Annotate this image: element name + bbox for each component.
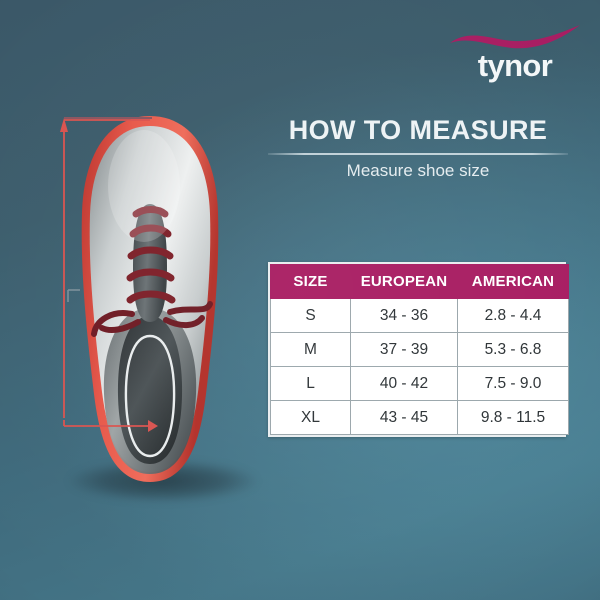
- brand-name: tynor: [440, 50, 590, 81]
- page-subtitle: Measure shoe size: [248, 160, 588, 182]
- size-chart-page: tynor HOW TO MEASURE Measure shoe size: [0, 0, 600, 600]
- cell-american: 9.8 - 11.5: [458, 401, 569, 435]
- cell-size: L: [271, 367, 351, 401]
- brand-logo: tynor: [440, 22, 590, 92]
- corner-tick: [68, 290, 80, 302]
- vertical-length-arrow: [40, 108, 260, 508]
- cell-european: 34 - 36: [351, 299, 458, 333]
- cell-size: XL: [271, 401, 351, 435]
- column-header-size: SIZE: [271, 265, 351, 299]
- cell-size: M: [271, 333, 351, 367]
- table-row: S 34 - 36 2.8 - 4.4: [271, 299, 569, 333]
- table-row: XL 43 - 45 9.8 - 11.5: [271, 401, 569, 435]
- arrow-head-bottom: [148, 420, 158, 432]
- cell-american: 2.8 - 4.4: [458, 299, 569, 333]
- cell-european: 40 - 42: [351, 367, 458, 401]
- size-chart-table-wrapper: SIZE EUROPEAN AMERICAN S 34 - 36 2.8 - 4…: [268, 262, 566, 437]
- cell-european: 37 - 39: [351, 333, 458, 367]
- wave-swoosh-icon: [448, 24, 583, 50]
- cell-european: 43 - 45: [351, 401, 458, 435]
- table-header-row: SIZE EUROPEAN AMERICAN: [271, 265, 569, 299]
- column-header-european: EUROPEAN: [351, 265, 458, 299]
- cell-american: 7.5 - 9.0: [458, 367, 569, 401]
- column-header-american: AMERICAN: [458, 265, 569, 299]
- title-divider: [268, 153, 568, 155]
- cell-american: 5.3 - 6.8: [458, 333, 569, 367]
- table-row: L 40 - 42 7.5 - 9.0: [271, 367, 569, 401]
- table-row: M 37 - 39 5.3 - 6.8: [271, 333, 569, 367]
- page-title: HOW TO MEASURE: [248, 116, 588, 146]
- cell-size: S: [271, 299, 351, 333]
- size-chart-table: SIZE EUROPEAN AMERICAN S 34 - 36 2.8 - 4…: [270, 264, 569, 435]
- shoe-illustration: [40, 108, 260, 508]
